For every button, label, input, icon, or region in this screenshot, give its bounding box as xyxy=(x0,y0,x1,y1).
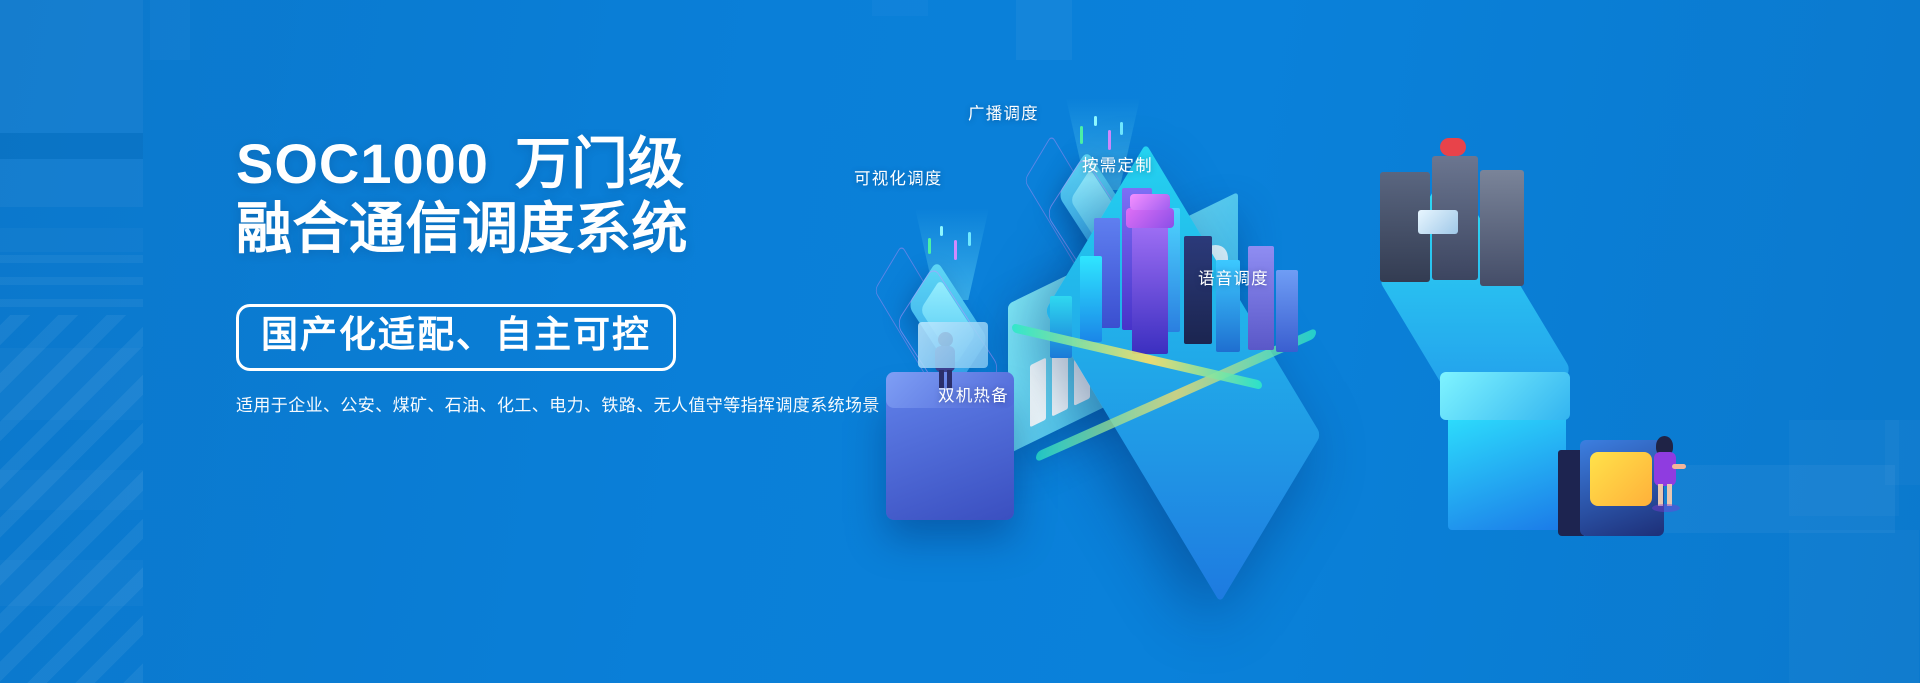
city-building xyxy=(1080,256,1102,342)
spark-dot xyxy=(1094,116,1097,126)
city-building xyxy=(1248,246,1274,350)
illustration-label-dual-hot-standby: 双机热备 xyxy=(938,382,1009,406)
laptop-icon xyxy=(1418,210,1458,234)
spark-dot xyxy=(1108,130,1111,150)
spark-dot xyxy=(940,226,943,236)
spark-dot xyxy=(1120,122,1123,135)
cyan-cube-top xyxy=(1440,372,1570,420)
control-console xyxy=(918,322,988,368)
status-badge-label: 国产化适配、自主可控 xyxy=(261,315,651,356)
tagline: 适用于企业、公安、煤矿、石油、化工、电力、铁路、无人值守等指挥调度系统场景 xyxy=(236,393,856,419)
status-badge: 国产化适配、自主可控 xyxy=(236,304,676,371)
headline-product-name: SOC1000 xyxy=(236,132,489,195)
spark-dot xyxy=(928,238,931,254)
city-building xyxy=(1050,296,1072,358)
marketing-banner: SOC1000万门级 融合通信调度系统 国产化适配、自主可控 适用于企业、公安、… xyxy=(0,0,1920,683)
panel-bar xyxy=(1030,358,1046,428)
city-tower-central xyxy=(1132,224,1168,354)
illustration-label-voice-dispatch: 语音调度 xyxy=(1198,265,1269,289)
illustration-label-visual-dispatch: 可视化调度 xyxy=(854,165,943,189)
city-building xyxy=(1276,270,1298,352)
isometric-illustration: 可视化调度 广播调度 按需定制 语音调度 双机热备 xyxy=(840,60,1820,620)
server-rack xyxy=(1480,170,1524,286)
headline-subtitle: 融合通信调度系统 xyxy=(236,197,856,262)
tower-cap xyxy=(1130,194,1170,210)
illustration-label-custom-on-demand: 按需定制 xyxy=(1082,152,1153,176)
spark-dot xyxy=(954,240,957,260)
tower-cap xyxy=(1126,208,1174,228)
spark-dot xyxy=(968,232,971,246)
server-rack-indicator xyxy=(1440,138,1466,156)
person-operator-right xyxy=(1652,436,1680,510)
illustration-label-broadcast-dispatch: 广播调度 xyxy=(968,100,1039,124)
city-building xyxy=(1184,236,1212,344)
headline-capacity: 万门级 xyxy=(515,132,685,195)
page-title: SOC1000万门级 融合通信调度系统 xyxy=(236,132,856,262)
info-kiosk xyxy=(1558,440,1666,536)
headline-block: SOC1000万门级 融合通信调度系统 国产化适配、自主可控 适用于企业、公安、… xyxy=(236,132,856,418)
spark-dot xyxy=(1080,126,1083,144)
